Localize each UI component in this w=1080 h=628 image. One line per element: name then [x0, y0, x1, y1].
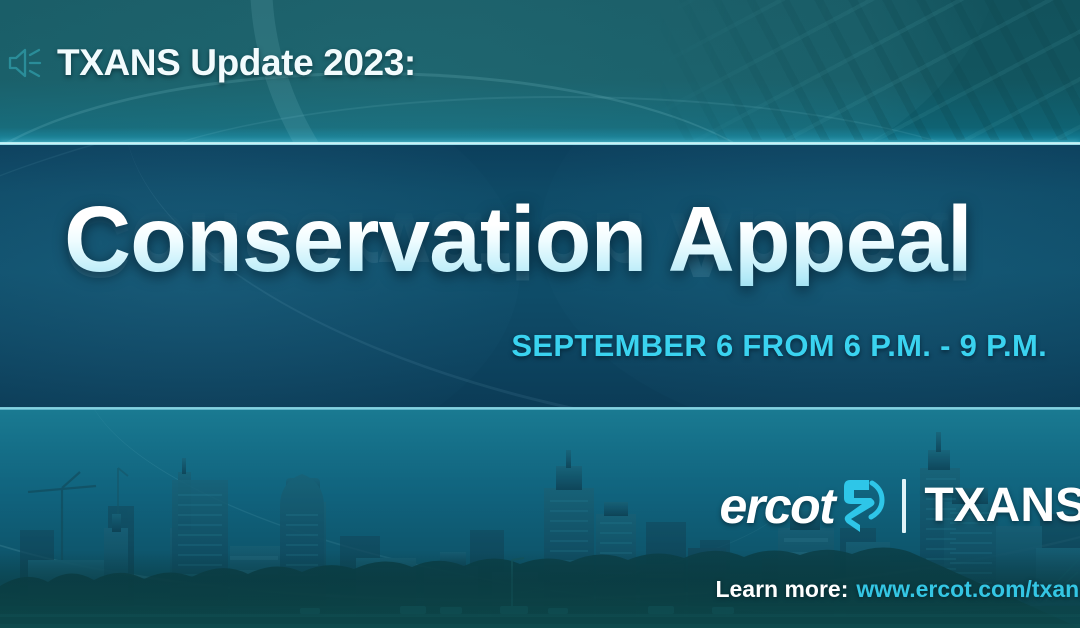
txans-program-name: TXANS: [924, 482, 1080, 530]
learn-more-url[interactable]: www.ercot.com/txans: [856, 576, 1080, 603]
headline-title: Conservation Appeal: [64, 193, 972, 286]
ercot-conservation-appeal-banner: TXANS Update 2023: Conservation Appeal C…: [0, 0, 1080, 628]
ercot-wordmark: ercot: [720, 481, 835, 531]
ercot-bolt-icon: [838, 478, 886, 534]
learn-more-row: Learn more: www.ercot.com/txans: [715, 576, 1080, 603]
headline-group: Conservation Appeal Conservation Appeal …: [0, 145, 1080, 410]
learn-more-label: Learn more:: [715, 576, 848, 603]
diagonal-dash-pattern: [660, 0, 1080, 140]
megaphone-speaker-icon: [6, 45, 46, 81]
kicker-label: TXANS Update 2023:: [57, 42, 416, 84]
event-datetime-subhead: SEPTEMBER 6 FROM 6 P.M. - 9 P.M.: [511, 328, 1047, 364]
middle-band: Conservation Appeal Conservation Appeal …: [0, 145, 1080, 410]
kicker-row: TXANS Update 2023:: [6, 42, 416, 84]
logo-divider: [902, 479, 906, 533]
ercot-txans-logo-lockup: ercot TXANS: [720, 478, 1080, 534]
